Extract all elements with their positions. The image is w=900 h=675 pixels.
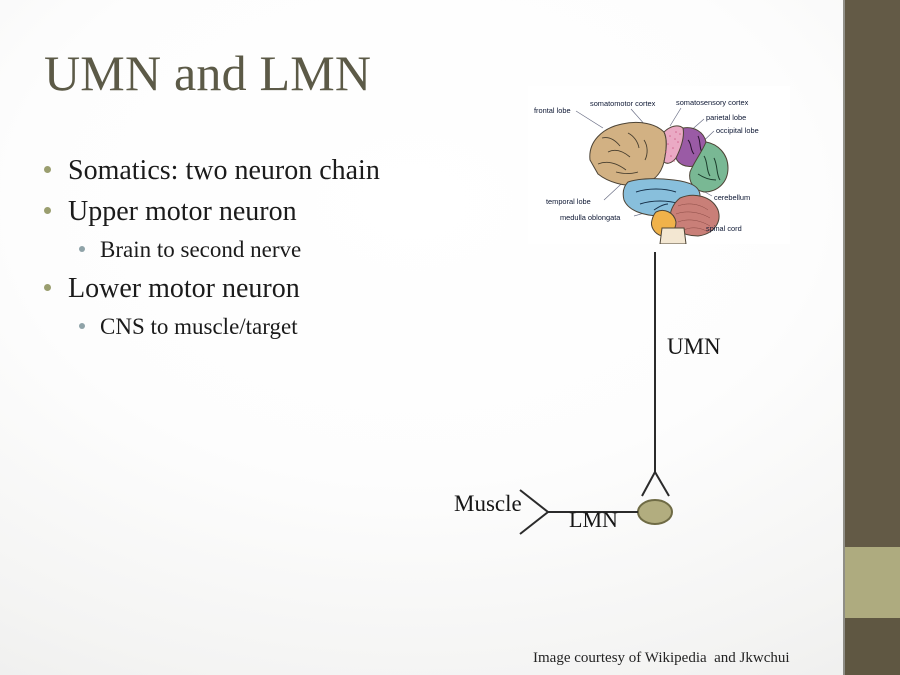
sidebar-band-bottom: [845, 618, 900, 675]
bullet-dot-icon: [44, 207, 51, 214]
muscle-chevron-icon: [520, 490, 548, 534]
list-item-label: CNS to muscle/target: [100, 311, 298, 342]
list-item-label: Brain to second nerve: [100, 234, 301, 265]
list-item-label: Upper motor neuron: [68, 193, 297, 230]
brain-label-spinal-cord: spinal cord: [706, 224, 742, 233]
list-item-label: Lower motor neuron: [68, 270, 300, 307]
brain-label-temporal-lobe: temporal lobe: [546, 197, 591, 206]
image-credit: Image courtesy of Wikipedia and Jkwchui: [533, 650, 790, 667]
sidebar-band-accent: [845, 547, 900, 618]
sidebar-band-top: [845, 0, 900, 547]
brain-label-frontal-lobe: frontal lobe: [534, 106, 571, 115]
muscle-label: Muscle: [454, 491, 522, 517]
lmn-cell-body: [638, 500, 672, 524]
brain-label-somatosensory-cortex: somatosensory cortex: [676, 98, 749, 107]
brain-label-cerebellum: cerebellum: [714, 193, 750, 202]
brain-label-occipital-lobe: occipital lobe: [716, 126, 759, 135]
bullet-dot-icon: [79, 246, 85, 252]
brain-label-somatomotor-cortex: somatomotor cortex: [590, 99, 656, 108]
bullet-dot-icon: [79, 323, 85, 329]
brain-anatomy-image: frontal lobe somatomotor cortex somatose…: [528, 86, 790, 244]
list-item-label: Somatics: two neuron chain: [68, 152, 380, 189]
lmn-label: LMN: [569, 507, 618, 533]
umn-label: UMN: [667, 334, 721, 360]
bullet-dot-icon: [44, 166, 51, 173]
bullet-dot-icon: [44, 284, 51, 291]
list-item: Somatics: two neuron chain: [44, 152, 514, 189]
umn-terminal-fork: [642, 472, 669, 496]
slide: UMN and LMN Somatics: two neuron chain U…: [0, 0, 900, 675]
sidebar-decoration: [843, 0, 900, 675]
brain-label-parietal-lobe: parietal lobe: [706, 113, 746, 122]
brain-label-medulla-oblongata: medulla oblongata: [560, 213, 621, 222]
slide-title: UMN and LMN: [44, 46, 371, 100]
list-item: Upper motor neuron: [44, 193, 514, 230]
